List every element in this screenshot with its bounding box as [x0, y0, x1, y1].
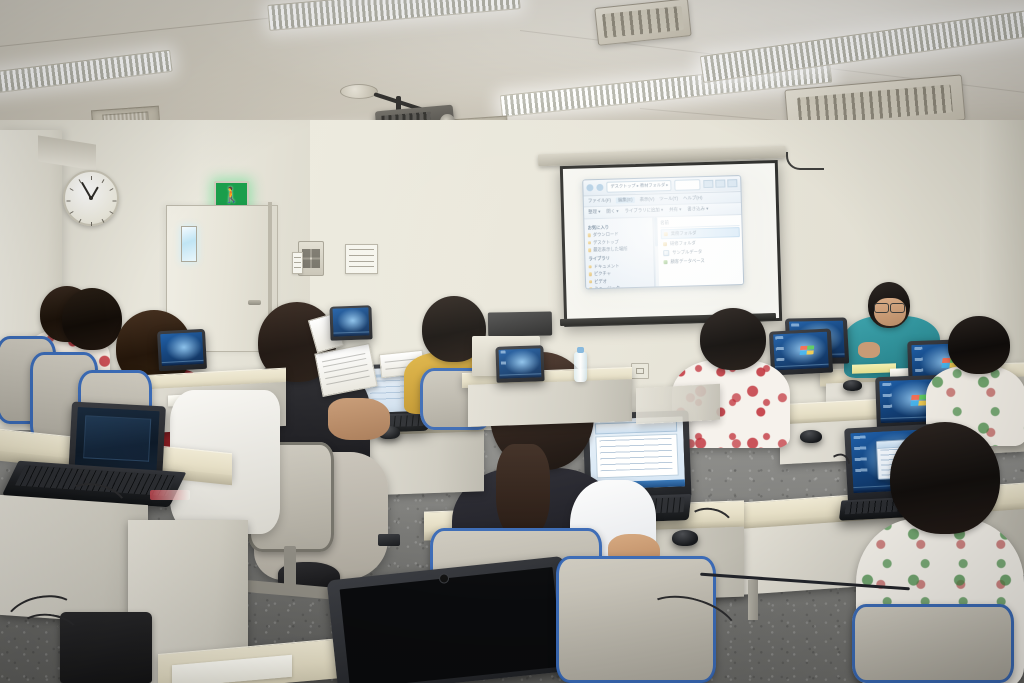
toolbar-open[interactable]: 開く ▾	[606, 209, 618, 215]
exit-running-man-icon: 🚶	[222, 188, 241, 203]
laptop-left-row-1	[157, 329, 207, 371]
nav-item-documents[interactable]: ドキュメント	[589, 262, 652, 270]
laptop-webcam	[438, 573, 449, 584]
search-box[interactable]	[674, 179, 700, 191]
student-7-head	[700, 308, 766, 370]
plastic-water-bottle	[574, 352, 587, 382]
address-bar[interactable]: デスクトップ ▸ 教材フォルダ ▸	[606, 180, 671, 193]
student-9-head	[890, 422, 1000, 534]
wall-clock	[63, 170, 119, 226]
toolbar-organize[interactable]: 整理 ▾	[588, 209, 600, 215]
student-white-floral-shirt	[672, 308, 796, 442]
desk-right-back-panel	[636, 384, 720, 424]
laptop-adapter-floor	[378, 534, 400, 546]
nav-item-music[interactable]: ミュージック	[589, 285, 652, 290]
list-item[interactable]: 顧客データベース	[661, 256, 740, 266]
laptop-left-row-2	[329, 305, 372, 340]
file-name: サンプルデータ	[672, 249, 702, 256]
menu-file[interactable]: ファイル(F)	[588, 198, 611, 205]
close-icon[interactable]	[727, 180, 737, 188]
nav-item-downloads[interactable]: ダウンロード	[588, 231, 651, 239]
toolbar-share[interactable]: 共有 ▾	[669, 207, 681, 213]
desk-front-right-leg	[748, 580, 758, 620]
menu-tools[interactable]: ツール(T)	[659, 196, 678, 203]
explorer-file-list: 名前 業務フォルダ 研修フォルダ サンプルデータ	[657, 215, 743, 290]
minimize-icon[interactable]	[703, 180, 713, 188]
document-icon	[663, 250, 669, 256]
chair-foreground-right[interactable]	[852, 604, 1014, 683]
nav-group-favorites: お気に入り	[588, 223, 651, 231]
nav-item-videos[interactable]: ビデオ	[589, 277, 652, 285]
instructor-glasses	[874, 303, 889, 313]
file-name: 研修フォルダ	[670, 240, 696, 247]
student-6-ponytail	[496, 444, 550, 540]
database-icon	[663, 260, 667, 264]
toolbar-burn[interactable]: 書き込み ▾	[687, 206, 708, 213]
explorer-body: お気に入り ダウンロード デスクトップ 最近表示した場所 ライブラリ ドキュメン…	[584, 215, 743, 290]
maximize-icon[interactable]	[715, 180, 725, 188]
desk-center-back-panel	[468, 379, 632, 427]
menu-edit[interactable]: 編集(E)	[616, 197, 635, 204]
desk-sticker-left	[150, 490, 190, 500]
explorer-navigation-pane: お気に入り ダウンロード デスクトップ 最近表示した場所 ライブラリ ドキュメン…	[584, 217, 655, 290]
column-name: 名前	[660, 220, 669, 226]
network-switch-box	[488, 311, 552, 336]
file-name: 顧客データベース	[670, 258, 704, 265]
toolbar-add-to-library[interactable]: ライブラリに追加 ▾	[625, 207, 664, 214]
laptop-center-back	[495, 345, 544, 383]
smoke-detector	[340, 84, 378, 99]
forward-button[interactable]	[596, 184, 603, 191]
folder-icon	[663, 232, 667, 236]
student-8-head	[948, 316, 1010, 374]
projector-power-cable	[786, 152, 824, 170]
instructor-glasses	[890, 303, 905, 313]
notice-sheet-2	[345, 244, 378, 274]
nav-group-libraries: ライブラリ	[588, 255, 651, 263]
nav-item-recent-places[interactable]: 最近表示した場所	[588, 246, 651, 254]
instructor-mouse[interactable]	[843, 380, 862, 391]
menu-help[interactable]: ヘルプ(H)	[683, 195, 702, 202]
back-button[interactable]	[586, 184, 593, 191]
instructor-hand	[858, 342, 880, 358]
window-controls[interactable]	[703, 180, 737, 189]
mouse-right-middle[interactable]	[800, 430, 822, 443]
nav-item-pictures[interactable]: ピクチャ	[589, 270, 652, 278]
projection-screen: デスクトップ ▸ 教材フォルダ ▸ ファイル(F) 編集(E) 表示(V) ツー…	[560, 160, 782, 327]
folder-icon	[663, 242, 667, 246]
file-name: 業務フォルダ	[671, 230, 697, 237]
door-window	[181, 226, 197, 262]
notice-sheet-1	[292, 252, 303, 274]
menu-view[interactable]: 表示(V)	[640, 196, 655, 202]
classroom-photo: 🚶 デスクトップ ▸ 教材フォルダ ▸	[0, 0, 1024, 683]
student-4-arm	[328, 398, 390, 440]
list-item[interactable]: 業務フォルダ	[660, 227, 739, 239]
projected-explorer-window: デスクトップ ▸ 教材フォルダ ▸ ファイル(F) 編集(E) 表示(V) ツー…	[582, 175, 744, 290]
nav-item-desktop[interactable]: デスクトップ	[588, 238, 651, 246]
